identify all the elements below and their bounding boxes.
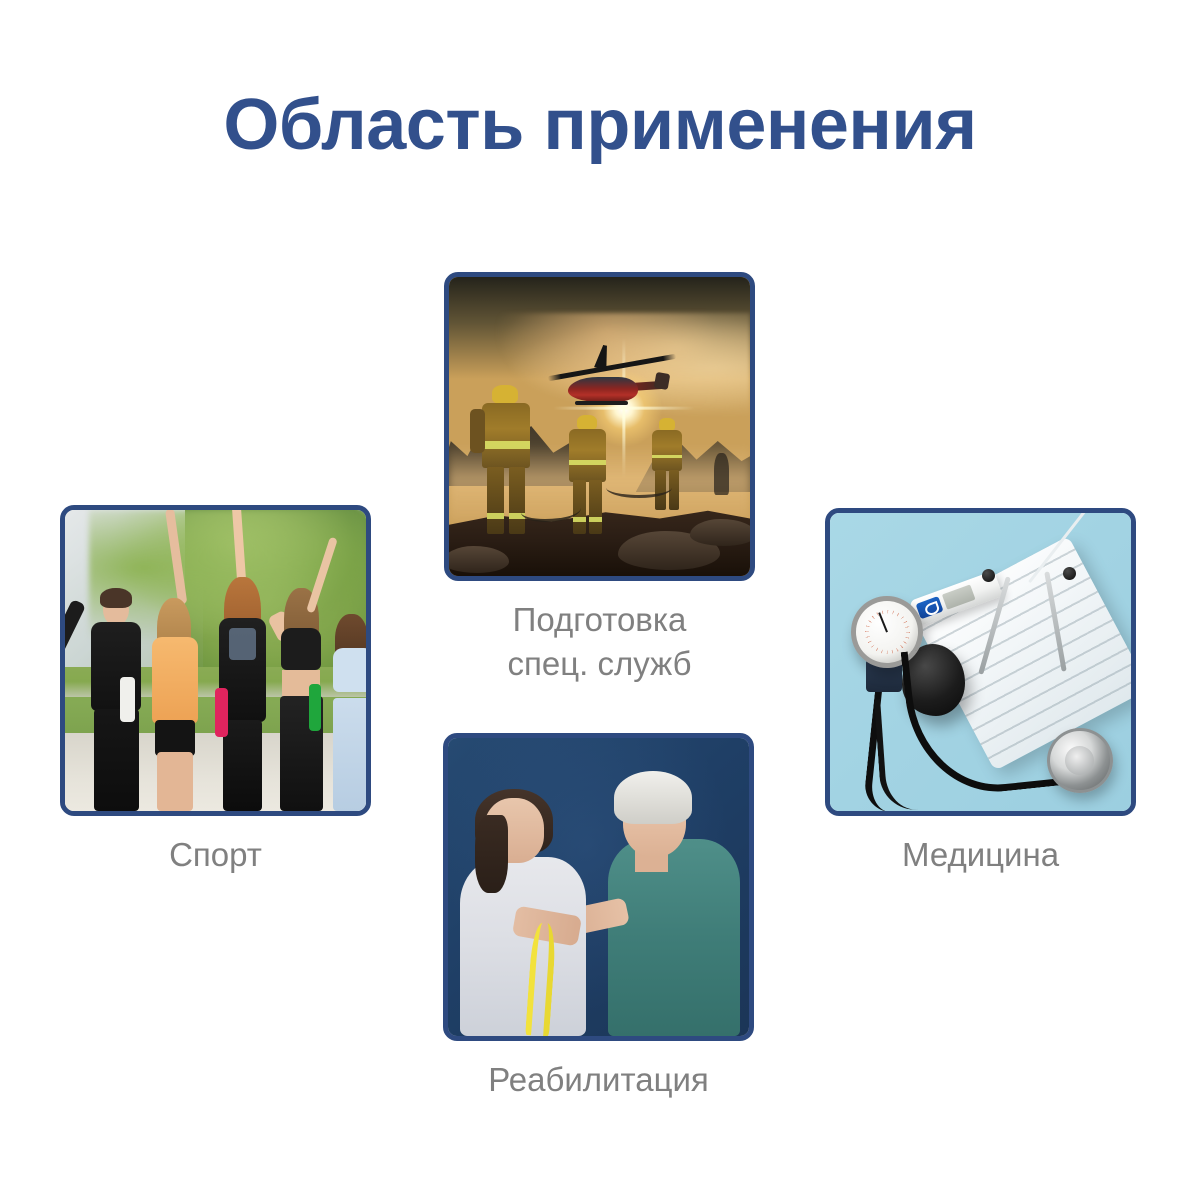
card-sport[interactable]: Спорт xyxy=(60,505,371,877)
patient-figure xyxy=(608,839,740,1036)
slide-root: Область применения xyxy=(0,0,1200,1200)
card-medicine[interactable]: Медицина xyxy=(825,508,1136,877)
stethoscope-chestpiece xyxy=(1047,728,1113,794)
helicopter xyxy=(551,355,671,409)
medicine-photo xyxy=(830,513,1131,811)
sport-caption: Спорт xyxy=(60,833,371,877)
rescue-photo xyxy=(449,277,750,576)
rescue-caption: Подготовка спец. служб xyxy=(444,598,755,685)
card-rescue[interactable]: Подготовка спец. служб xyxy=(444,272,755,685)
medicine-caption: Медицина xyxy=(825,833,1136,877)
rescue-photo-frame xyxy=(444,272,755,581)
medicine-photo-frame xyxy=(825,508,1136,816)
rehab-caption: Реабилитация xyxy=(443,1058,754,1102)
rehab-photo-frame xyxy=(443,733,754,1041)
sport-photo xyxy=(65,510,366,811)
page-title: Область применения xyxy=(0,88,1200,164)
sport-photo-frame xyxy=(60,505,371,816)
card-rehab[interactable]: Реабилитация xyxy=(443,733,754,1102)
rehab-photo xyxy=(448,738,749,1036)
